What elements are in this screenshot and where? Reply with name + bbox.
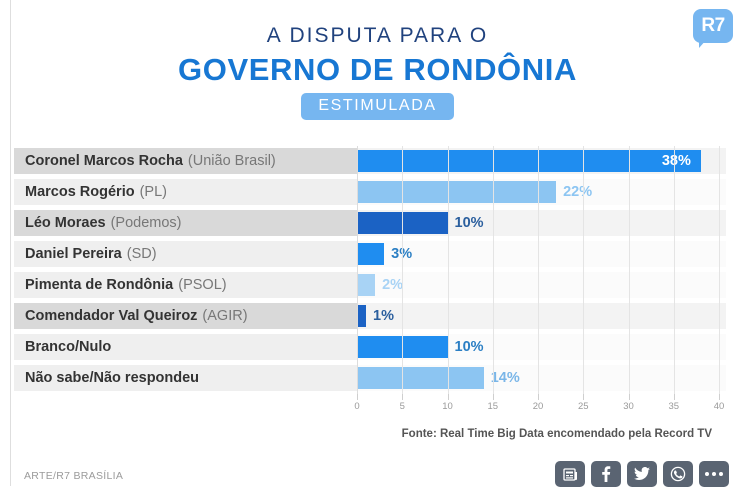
bar — [357, 212, 448, 234]
axis-tick — [448, 394, 449, 400]
bar — [357, 274, 375, 296]
chart-row: Pimenta de Rondônia(PSOL)2% — [14, 270, 726, 300]
row-plot: 14% — [357, 365, 726, 391]
dot-2 — [712, 472, 716, 476]
bar-value-label: 3% — [391, 243, 412, 265]
bar-value-label: 10% — [455, 212, 484, 234]
axis-tick-label: 25 — [578, 401, 589, 412]
social-share-bar — [555, 461, 729, 487]
chart-row: Marcos Rogério(PL)22% — [14, 177, 726, 207]
axis-tick — [629, 394, 630, 400]
page-title: GOVERNO DE RONDÔNIA — [14, 52, 741, 88]
left-column-rule — [10, 0, 11, 486]
candidate-party: (PSOL) — [178, 277, 226, 293]
axis-tick-label: 10 — [442, 401, 453, 412]
candidate-name: Não sabe/Não respondeu — [25, 370, 199, 386]
more-dots — [705, 472, 723, 476]
candidate-name: Branco/Nulo — [25, 339, 111, 355]
bar-chart: Coronel Marcos Rocha(União Brasil)38%Mar… — [14, 146, 726, 416]
bar — [357, 367, 484, 389]
axis-tick — [538, 394, 539, 400]
status-badge: ESTIMULADA — [301, 93, 453, 120]
chart-row: Não sabe/Não respondeu14% — [14, 363, 726, 393]
axis-tick — [402, 394, 403, 400]
chart-row: Branco/Nulo10% — [14, 332, 726, 362]
candidate-name: Coronel Marcos Rocha — [25, 153, 183, 169]
row-label: Marcos Rogério(PL) — [14, 179, 357, 205]
row-label: Branco/Nulo — [14, 334, 357, 360]
r7-logo[interactable]: R7 — [693, 9, 733, 49]
axis-tick-label: 35 — [668, 401, 679, 412]
bar-value-label: 38% — [357, 150, 691, 172]
dot-1 — [705, 472, 709, 476]
bar-value-label: 2% — [382, 274, 403, 296]
bar — [357, 336, 448, 358]
bar — [357, 305, 366, 327]
axis-tick — [357, 394, 358, 400]
newspaper-icon[interactable] — [555, 461, 585, 487]
bar-value-label: 14% — [491, 367, 520, 389]
candidate-name: Marcos Rogério — [25, 184, 135, 200]
row-label: Coronel Marcos Rocha(União Brasil) — [14, 148, 357, 174]
row-plot: 1% — [357, 303, 726, 329]
bar-value-label: 10% — [455, 336, 484, 358]
candidate-party: (AGIR) — [202, 308, 247, 324]
row-plot: 3% — [357, 241, 726, 267]
x-axis: 0510152025303540 — [357, 394, 726, 416]
whatsapp-icon[interactable] — [663, 461, 693, 487]
art-credit: ARTE/R7 BRASÍLIA — [24, 470, 123, 482]
twitter-icon[interactable] — [627, 461, 657, 487]
axis-tick-label: 15 — [487, 401, 498, 412]
axis-tick-label: 40 — [714, 401, 725, 412]
candidate-party: (União Brasil) — [188, 153, 276, 169]
candidate-party: (SD) — [127, 246, 157, 262]
candidate-party: (PL) — [140, 184, 167, 200]
row-plot: 22% — [357, 179, 726, 205]
axis-tick-label: 20 — [533, 401, 544, 412]
row-label: Daniel Pereira(SD) — [14, 241, 357, 267]
axis-tick — [674, 394, 675, 400]
row-label: Comendador Val Queiroz(AGIR) — [14, 303, 357, 329]
source-note: Fonte: Real Time Big Data encomendado pe… — [14, 428, 726, 440]
row-plot: 10% — [357, 210, 726, 236]
row-plot: 10% — [357, 334, 726, 360]
bar — [357, 243, 384, 265]
logo-text: R7 — [693, 9, 733, 43]
row-plot: 38% — [357, 148, 726, 174]
chart-row: Comendador Val Queiroz(AGIR)1% — [14, 301, 726, 331]
candidate-name: Daniel Pereira — [25, 246, 122, 262]
row-label: Pimenta de Rondônia(PSOL) — [14, 272, 357, 298]
kicker-text: A DISPUTA PARA O — [14, 24, 741, 48]
chart-row: Daniel Pereira(SD)3% — [14, 239, 726, 269]
axis-tick — [583, 394, 584, 400]
bar-value-label: 22% — [563, 181, 592, 203]
bar-value-label: 1% — [373, 305, 394, 327]
dot-3 — [719, 472, 723, 476]
axis-tick — [719, 394, 720, 400]
facebook-icon[interactable] — [591, 461, 621, 487]
candidate-name: Comendador Val Queiroz — [25, 308, 197, 324]
candidate-name: Pimenta de Rondônia — [25, 277, 173, 293]
more-icon[interactable] — [699, 461, 729, 487]
badge-container: ESTIMULADA — [14, 93, 741, 120]
header: A DISPUTA PARA O GOVERNO DE RONDÔNIA EST… — [14, 0, 741, 130]
infographic-page: A DISPUTA PARA O GOVERNO DE RONDÔNIA EST… — [0, 0, 741, 486]
chart-row: Léo Moraes(Podemos)10% — [14, 208, 726, 238]
axis-tick-label: 5 — [400, 401, 405, 412]
axis-tick-label: 0 — [354, 401, 359, 412]
row-plot: 2% — [357, 272, 726, 298]
row-label: Léo Moraes(Podemos) — [14, 210, 357, 236]
axis-tick — [493, 394, 494, 400]
candidate-party: (Podemos) — [111, 215, 182, 231]
axis-tick-label: 30 — [623, 401, 634, 412]
candidate-name: Léo Moraes — [25, 215, 106, 231]
chart-row: Coronel Marcos Rocha(União Brasil)38% — [14, 146, 726, 176]
bar — [357, 181, 556, 203]
row-label: Não sabe/Não respondeu — [14, 365, 357, 391]
